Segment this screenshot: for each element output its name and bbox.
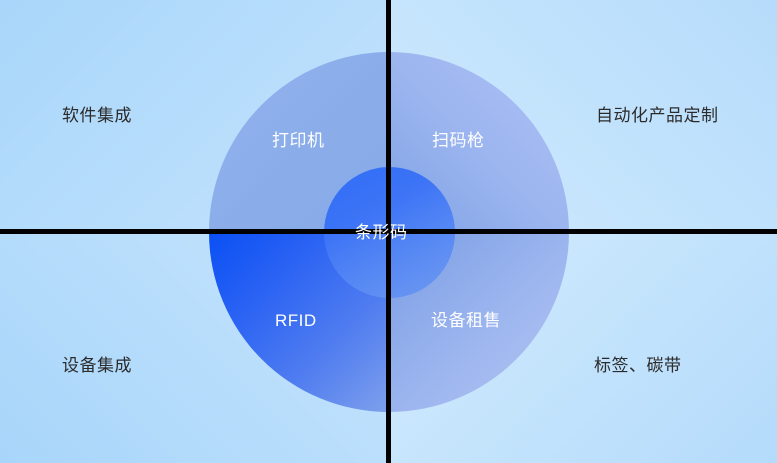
ring-label-bottom-right: 设备租售	[431, 312, 501, 329]
ring-label-top-right: 扫码枪	[432, 132, 485, 149]
outer-label-bottom-left: 设备集成	[62, 357, 132, 374]
core-label: 条形码	[355, 224, 408, 241]
outer-label-bottom-right: 标签、碳带	[594, 357, 682, 374]
ring-label-top-left: 打印机	[272, 132, 325, 149]
quadrant-diagram: 软件集成 自动化产品定制 设备集成 标签、碳带 打印机 扫码枪 RFID 设备租…	[0, 0, 777, 463]
ring-label-bottom-left: RFID	[275, 312, 317, 329]
outer-label-top-left: 软件集成	[62, 107, 132, 124]
outer-label-top-right: 自动化产品定制	[596, 107, 719, 124]
